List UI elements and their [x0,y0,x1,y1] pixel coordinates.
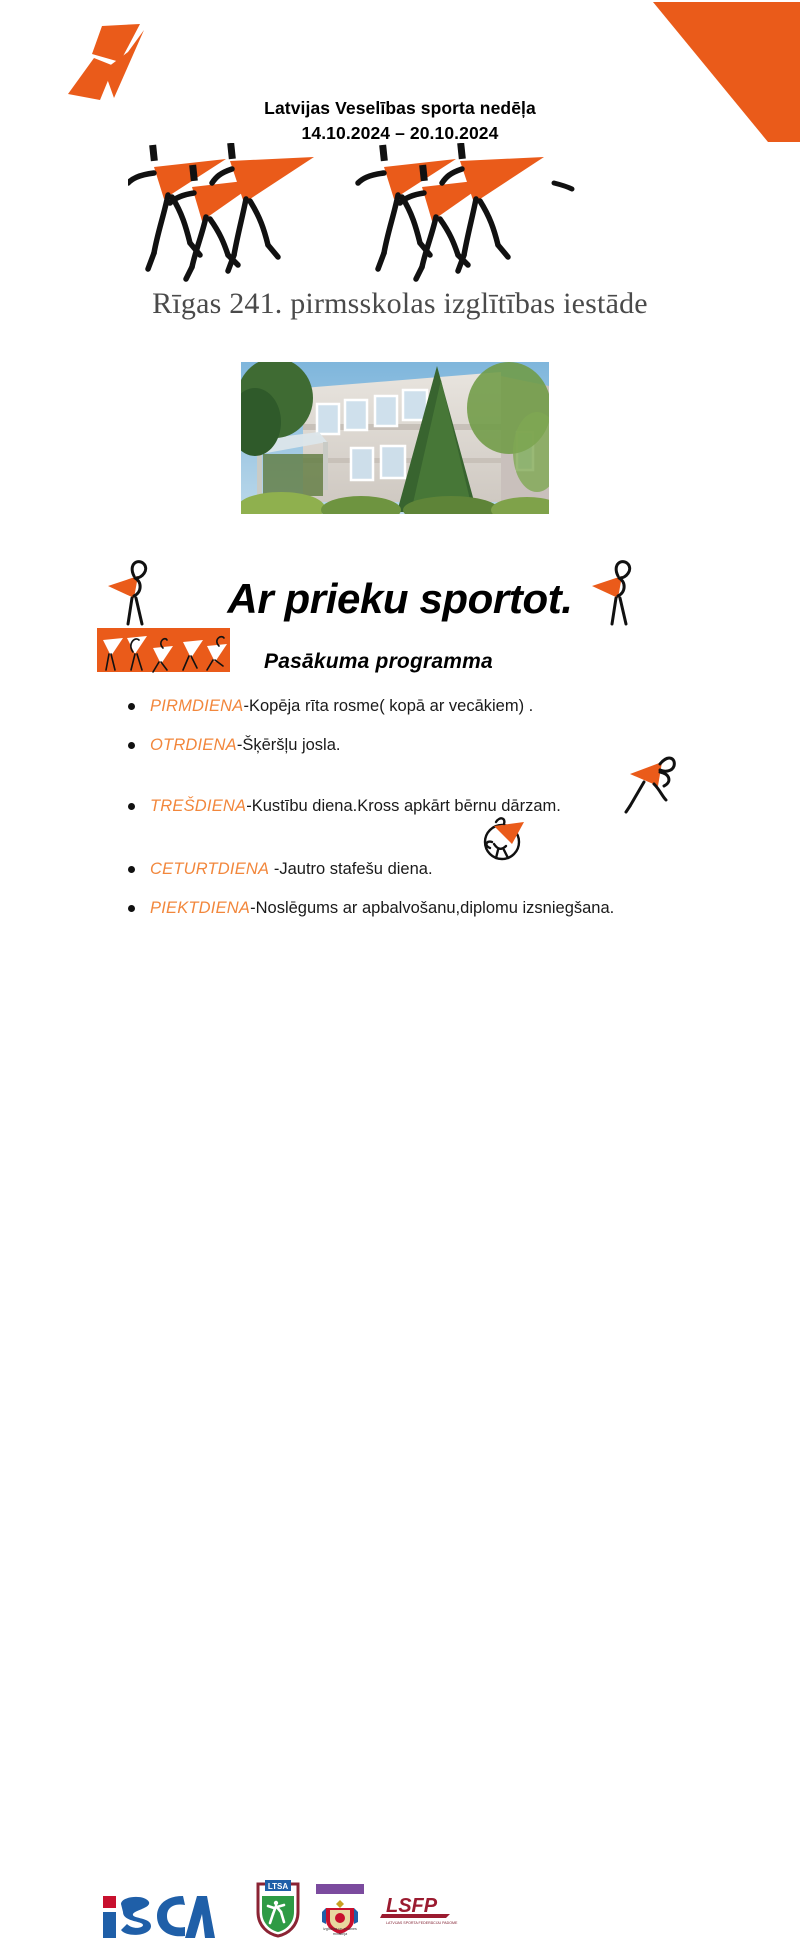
list-item: CETURTDIENA -Jautro stafešu diena. [120,860,740,879]
stick-figure-right-icon [588,556,636,628]
running-figure-decoration-icon [624,752,684,814]
running-figures-graphic [128,143,688,283]
program-subtitle: Pasākuma programma [264,650,493,674]
ministry-logo-caption-line1: izglītības un zinātnes [323,1927,357,1931]
bullet-icon [128,742,135,749]
isca-logo [101,1892,215,1940]
program-day-label: OTRDIENA [150,736,237,754]
title-line-1: Latvijas Veselības sporta nedēļa [0,96,800,121]
poster-slogan: Ar prieku sportot. [0,575,800,623]
ministry-logo-caption-line2: ministrija [333,1932,347,1936]
lsfp-logo: LSFP LATVIJAS SPORTA FEDERĀCIJU PADOME [380,1892,466,1926]
school-building-photo [241,362,549,514]
ltsa-logo-text: LTSA [268,1882,289,1891]
program-day-label: PIEKTDIENA [150,899,250,917]
bullet-icon [128,803,135,810]
program-day-label: CETURTDIENA [150,860,269,878]
poster-title-block: Latvijas Veselības sporta nedēļa 14.10.2… [0,96,800,146]
program-separator: - [269,860,279,878]
list-item: PIEKTDIENA-Noslēgums ar apbalvošanu,dipl… [120,899,740,918]
sponsor-logos-row: LTSA izglītības un zinātnes ministrija [0,936,800,1016]
ministry-logo: izglītības un zinātnes ministrija [310,1882,370,1938]
bullet-icon [128,905,135,912]
poster-canvas: Latvijas Veselības sporta nedēļa 14.10.2… [0,0,800,1131]
school-name: Rīgas 241. pirmsskolas izglītības iestād… [0,287,800,321]
program-description: Kopēja rīta rosme( kopā ar vecākiem) . [249,697,533,715]
program-description: Jautro stafešu diena. [279,860,432,878]
bullet-icon [128,866,135,873]
bullet-icon [128,703,135,710]
lsfp-logo-text: LSFP [386,1895,438,1917]
ltsa-logo: LTSA [255,1878,301,1938]
program-description: Noslēgums ar apbalvošanu,diplomu izsnieg… [256,899,615,917]
lsfp-logo-subtitle: LATVIJAS SPORTA FEDERĀCIJU PADOME [386,1921,458,1925]
program-day-label: PIRMDIENA [150,697,243,715]
orange-figures-band-graphic [97,628,230,674]
title-line-2: 14.10.2024 – 20.10.2024 [0,121,800,146]
program-description: Šķēršļu josla. [242,736,340,754]
list-item: PIRMDIENA-Kopēja rīta rosme( kopā ar vec… [120,697,740,716]
program-description: Kustību diena.Kross apkārt bērnu dārzam. [252,797,561,815]
ball-figure-decoration-icon [478,816,528,862]
program-day-label: TREŠDIENA [150,797,246,815]
